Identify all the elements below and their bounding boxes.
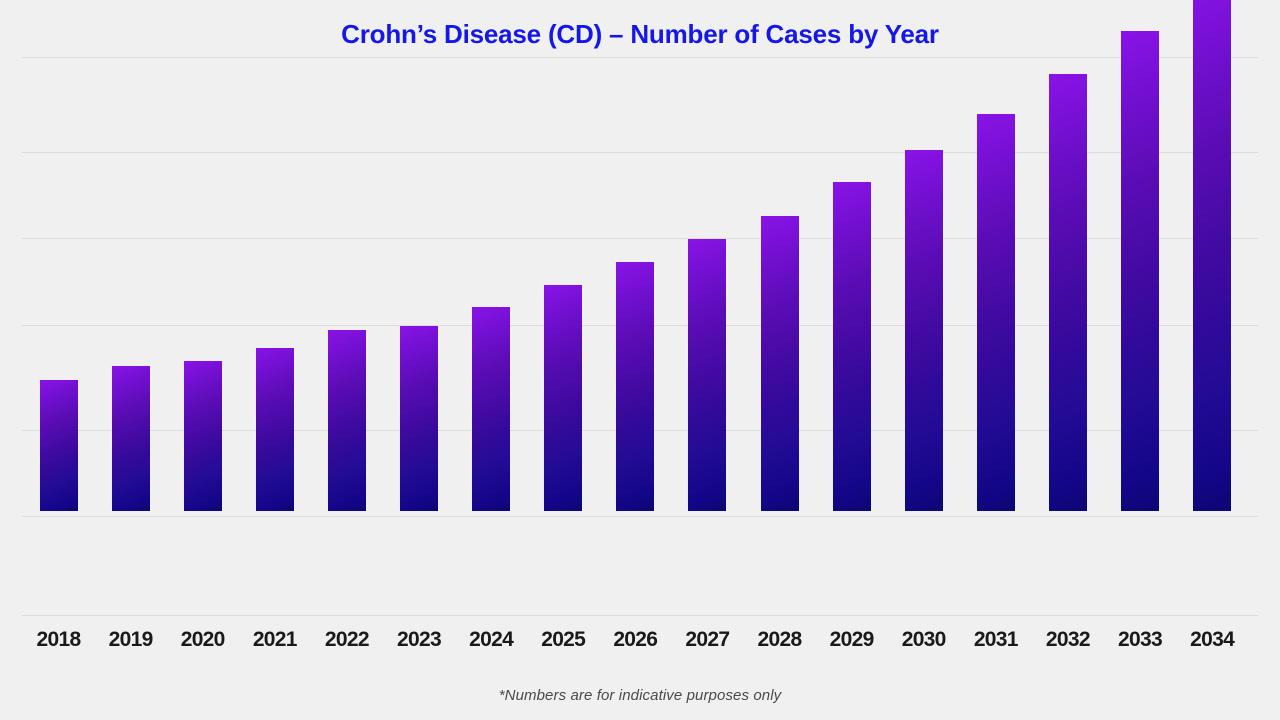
bars-layer <box>0 0 1280 616</box>
x-axis-label: 2021 <box>239 628 311 652</box>
x-axis-label: 2018 <box>22 628 94 652</box>
x-axis-label: 2027 <box>671 628 743 652</box>
x-axis-label: 2032 <box>1032 628 1104 652</box>
x-axis-label: 2023 <box>383 628 455 652</box>
x-axis-label: 2025 <box>527 628 599 652</box>
x-axis-label: 2033 <box>1104 628 1176 652</box>
bar <box>688 239 726 511</box>
bar <box>112 366 150 511</box>
x-axis-label: 2031 <box>960 628 1032 652</box>
x-axis-tick-labels: 2018201920202021202220232024202520262027… <box>0 628 1280 662</box>
bar <box>905 150 943 511</box>
bar <box>1193 0 1231 511</box>
bar <box>400 326 438 511</box>
bar <box>544 285 582 511</box>
bar <box>616 262 654 511</box>
bar <box>472 307 510 511</box>
x-axis-label: 2030 <box>888 628 960 652</box>
x-axis-label: 2022 <box>311 628 383 652</box>
x-axis-label: 2034 <box>1176 628 1248 652</box>
bar <box>328 330 366 511</box>
bar <box>256 348 294 511</box>
bar <box>833 182 871 511</box>
bar <box>1049 74 1087 511</box>
x-axis-label: 2026 <box>599 628 671 652</box>
x-axis-label: 2028 <box>743 628 815 652</box>
x-axis-label: 2029 <box>816 628 888 652</box>
chart-footnote: *Numbers are for indicative purposes onl… <box>0 687 1280 704</box>
x-axis-label: 2024 <box>455 628 527 652</box>
bar <box>184 361 222 511</box>
bar <box>977 114 1015 511</box>
bar <box>40 380 78 511</box>
bar <box>761 216 799 511</box>
bar-chart-figure: Crohn’s Disease (CD) – Number of Cases b… <box>0 0 1280 720</box>
x-axis-label: 2020 <box>167 628 239 652</box>
x-axis-label: 2019 <box>95 628 167 652</box>
bar <box>1121 31 1159 511</box>
